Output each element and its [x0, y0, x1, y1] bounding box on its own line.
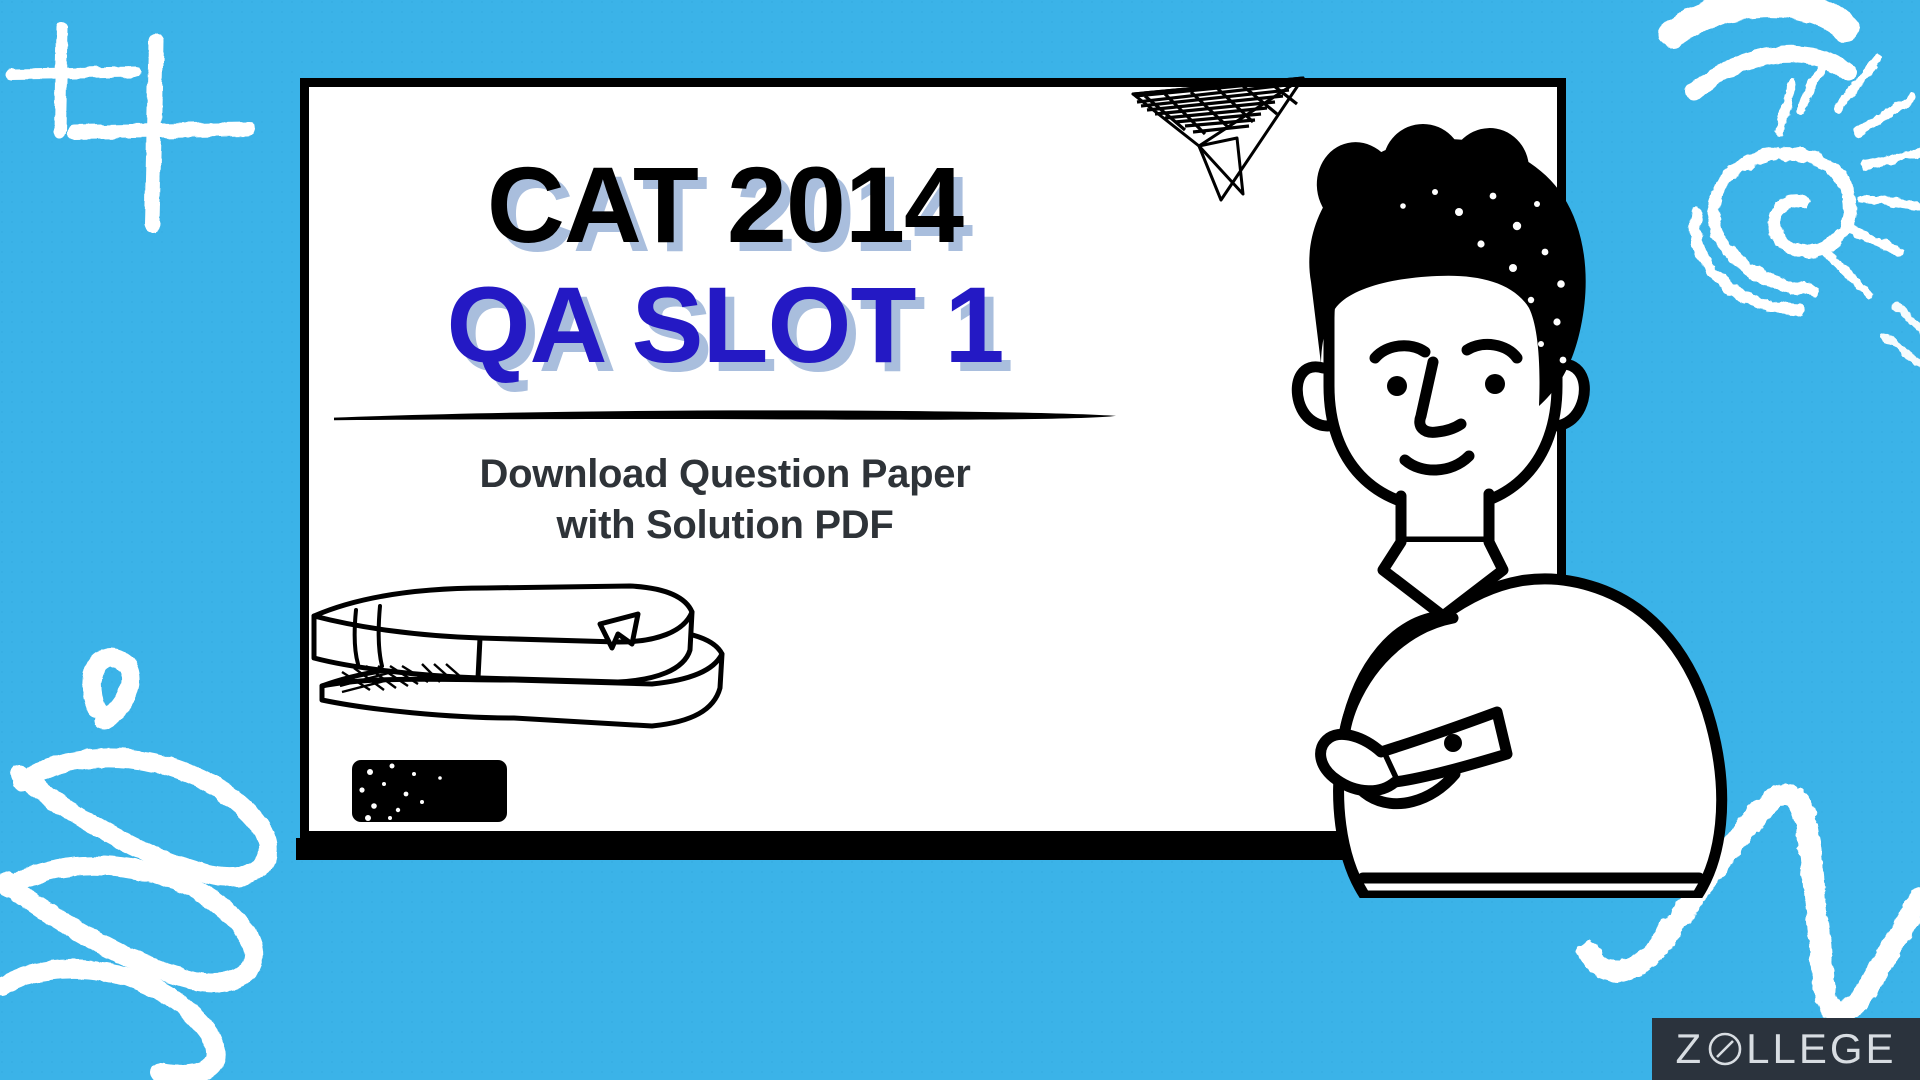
sleeve-button: [1444, 734, 1462, 752]
eraser-speckles: [352, 760, 507, 822]
logo-text-after: LLEGE: [1746, 1025, 1896, 1073]
page-subtitle-accent: QA SLOT 1: [330, 268, 1120, 381]
board-eraser: [352, 760, 507, 822]
download-caption-line-1: Download Question Paper: [330, 449, 1120, 500]
logo-text-before: Z: [1675, 1025, 1704, 1073]
underline-stroke: [330, 408, 1120, 422]
burst-doodle: [1780, 58, 1920, 294]
burst-doodle-edge: [1884, 306, 1920, 364]
plus-doodle-large: [74, 42, 248, 225]
download-caption: Download Question Paper with Solution PD…: [330, 449, 1120, 551]
logo-text: Z LLEGE: [1675, 1025, 1896, 1073]
swoosh-doodle: [1672, 3, 1848, 92]
download-caption-line-2: with Solution PDF: [330, 500, 1120, 551]
headline-block: CAT 2014 QA SLOT 1 Download Question Pap…: [330, 150, 1120, 551]
stacked-books-illustration: [300, 568, 730, 778]
page-title: CAT 2014: [330, 150, 1120, 260]
presenter-character: [1245, 118, 1745, 898]
zollege-logo[interactable]: Z LLEGE: [1652, 1018, 1920, 1080]
logo-slashed-o-icon: [1704, 1030, 1746, 1068]
plus-doodle-small: [12, 28, 136, 132]
poster-canvas: CAT 2014 QA SLOT 1 Download Question Pap…: [0, 0, 1920, 1080]
coil-doodle: [2, 658, 268, 1075]
